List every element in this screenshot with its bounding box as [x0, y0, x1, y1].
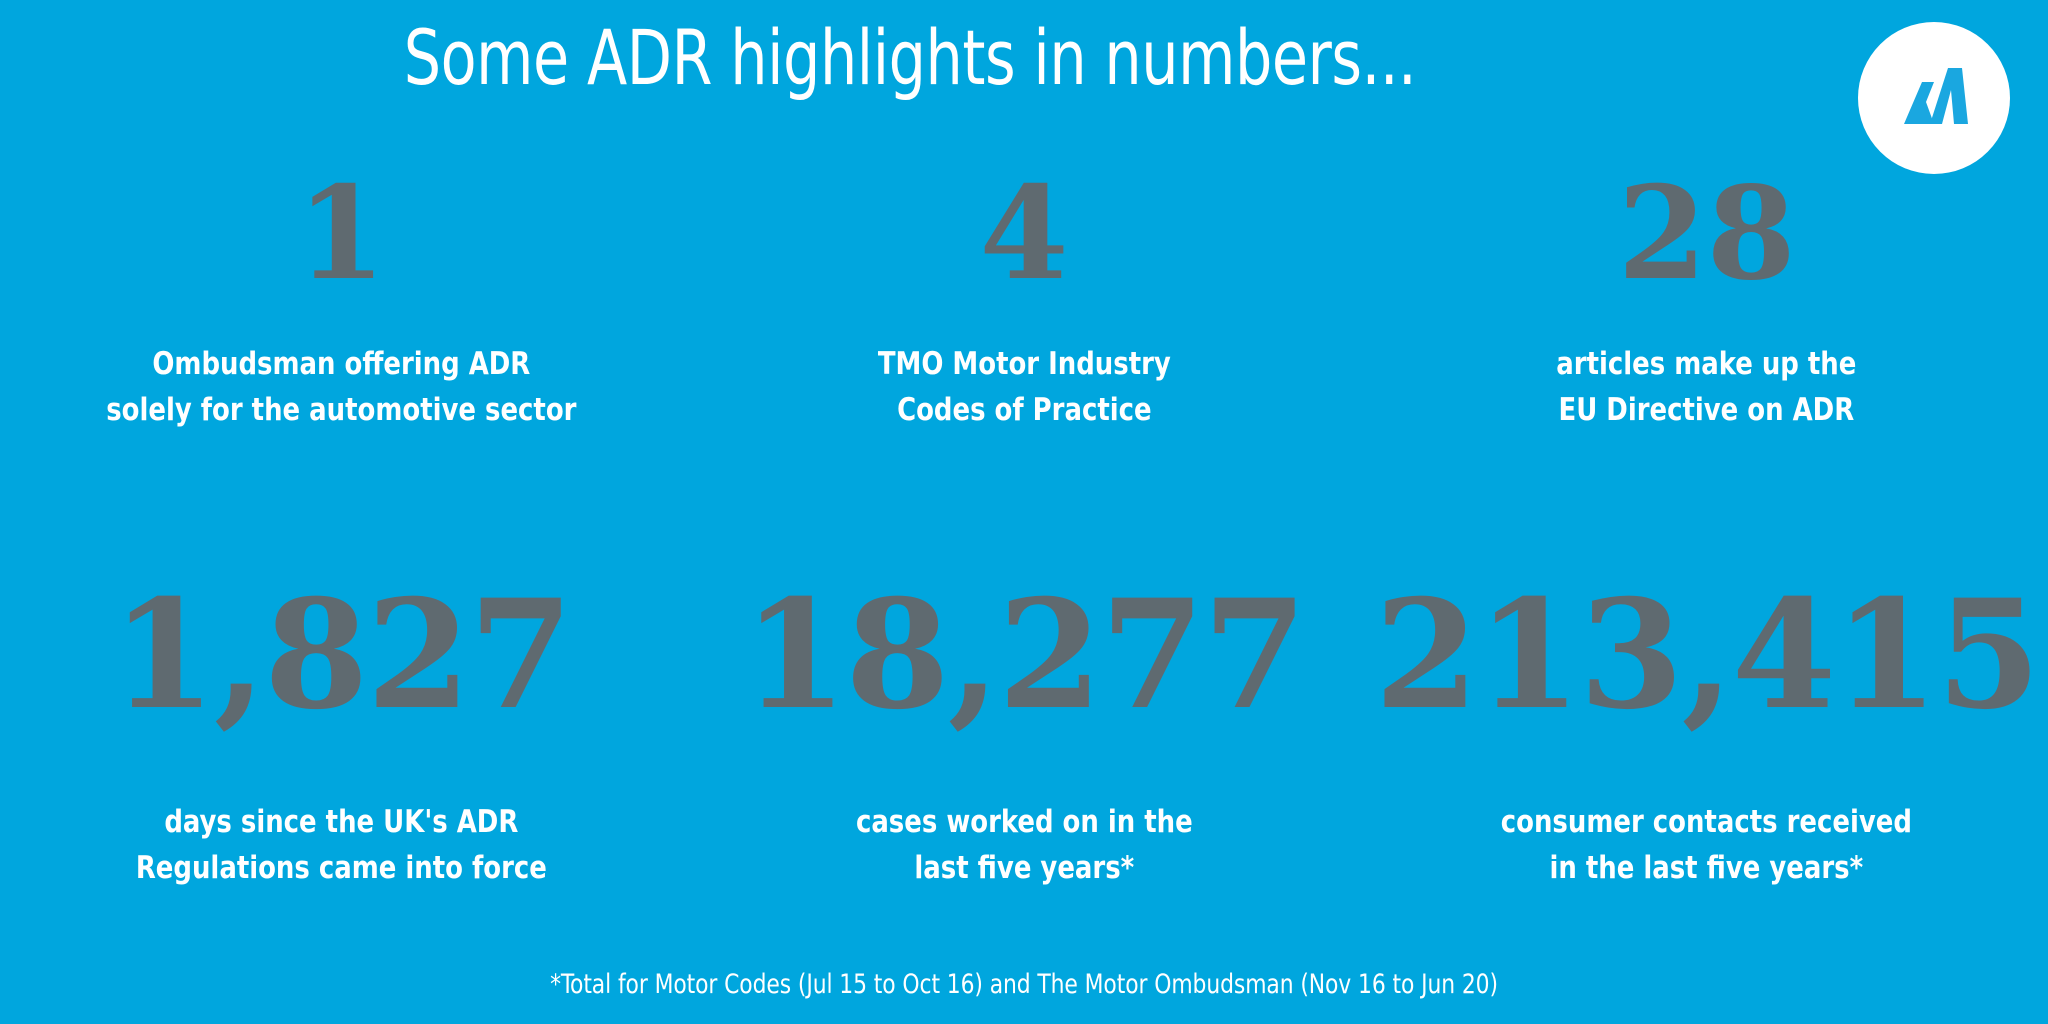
stat-number: 18,277	[683, 580, 1366, 758]
brand-logo	[1858, 22, 2010, 174]
caption-line: solely for the automotive sector	[24, 388, 659, 434]
infographic-canvas: Some ADR highlights in numbers... 1 Ombu…	[0, 0, 2048, 1024]
m-monogram-icon	[1882, 46, 1986, 150]
caption-line: days since the UK's ADR	[24, 800, 659, 846]
stat-caption: Ombudsman offering ADR solely for the au…	[24, 342, 659, 434]
stat-codes-of-practice-count: 4 TMO Motor Industry Codes of Practice	[683, 170, 1366, 434]
stat-days-since-regulations: 1,827 days since the UK's ADR Regulation…	[0, 580, 683, 892]
stats-row-bottom: 1,827 days since the UK's ADR Regulation…	[0, 580, 2048, 892]
stat-number: 1	[0, 170, 683, 320]
stat-number: 1,827	[0, 580, 683, 758]
header: Some ADR highlights in numbers...	[0, 0, 2048, 150]
stat-caption: consumer contacts received in the last f…	[1389, 800, 2024, 892]
caption-line: TMO Motor Industry	[707, 342, 1342, 388]
stat-caption: days since the UK's ADR Regulations came…	[24, 800, 659, 892]
caption-line: Ombudsman offering ADR	[24, 342, 659, 388]
stat-consumer-contacts-received: 213,415 consumer contacts received in th…	[1365, 580, 2048, 892]
caption-line: articles make up the	[1389, 342, 2024, 388]
stat-caption: articles make up the EU Directive on ADR	[1389, 342, 2024, 434]
caption-line: in the last five years*	[1389, 846, 2024, 892]
caption-line: consumer contacts received	[1389, 800, 2024, 846]
caption-line: EU Directive on ADR	[1389, 388, 2024, 434]
caption-line: last five years*	[707, 846, 1342, 892]
page-title: Some ADR highlights in numbers...	[127, 18, 1692, 98]
stat-ombudsman-count: 1 Ombudsman offering ADR solely for the …	[0, 170, 683, 434]
caption-line: Regulations came into force	[24, 846, 659, 892]
stat-number: 4	[683, 170, 1366, 320]
stat-caption: TMO Motor Industry Codes of Practice	[707, 342, 1342, 434]
stat-cases-worked-on: 18,277 cases worked on in the last five …	[683, 580, 1366, 892]
footnote: *Total for Motor Codes (Jul 15 to Oct 16…	[102, 969, 1945, 1000]
stat-caption: cases worked on in the last five years*	[707, 800, 1342, 892]
stat-number: 28	[1365, 170, 2048, 320]
stat-eu-directive-articles-count: 28 articles make up the EU Directive on …	[1365, 170, 2048, 434]
caption-line: Codes of Practice	[707, 388, 1342, 434]
stat-number: 213,415	[1365, 580, 2048, 758]
caption-line: cases worked on in the	[707, 800, 1342, 846]
stats-row-top: 1 Ombudsman offering ADR solely for the …	[0, 170, 2048, 434]
